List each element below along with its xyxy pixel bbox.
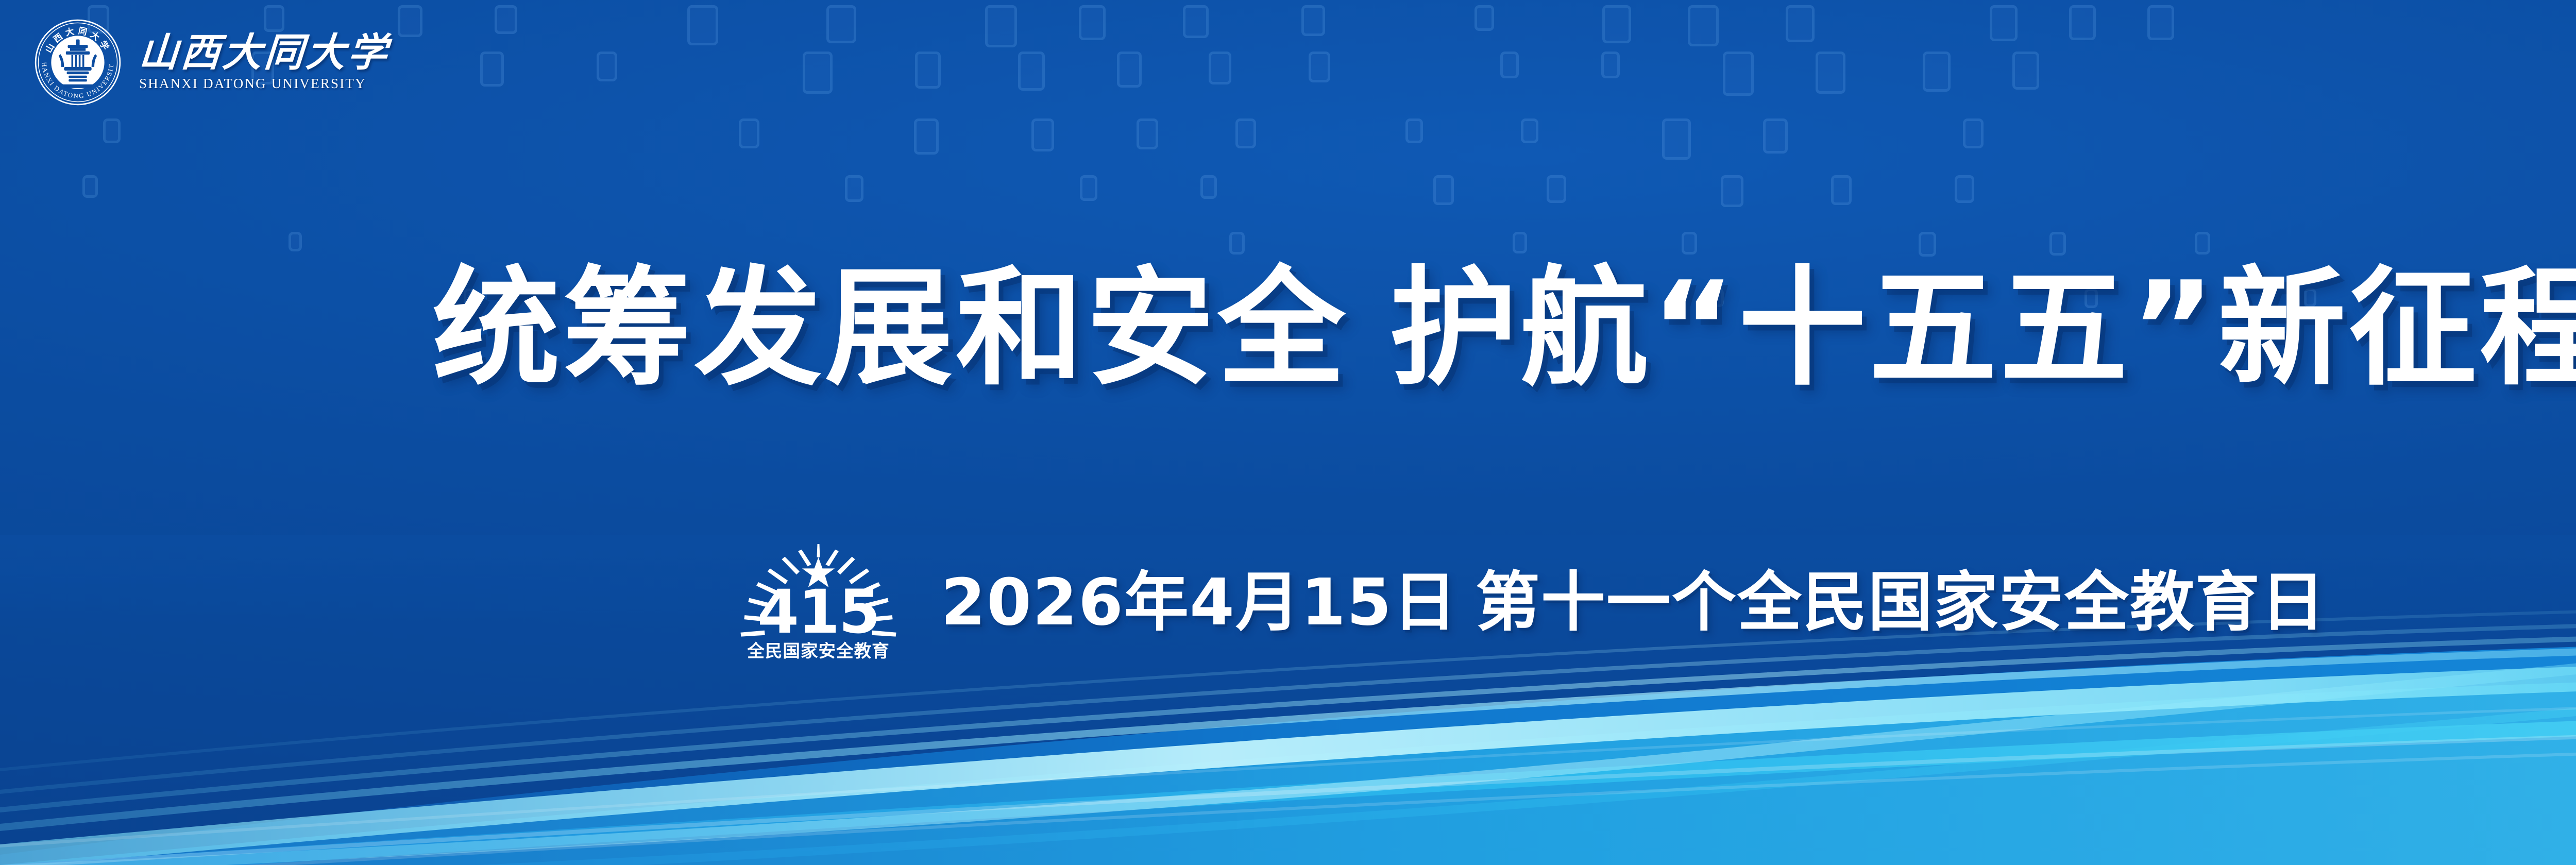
pattern-cell bbox=[398, 5, 422, 37]
pattern-cell bbox=[914, 118, 939, 155]
subtitle-row: 415 全民国家安全教育 2026年4月15日第十一个全民国家安全教育日 bbox=[0, 542, 2576, 663]
pattern-cell bbox=[289, 232, 302, 251]
pattern-cell bbox=[1513, 232, 1527, 253]
security-education-day-banner: SHANXI DATONG UNIVERSITY 山西大同大学 bbox=[0, 0, 2576, 865]
pattern-cell bbox=[1963, 118, 1984, 148]
pattern-cell bbox=[1433, 175, 1454, 205]
pattern-cell bbox=[1080, 175, 1097, 201]
pattern-cell bbox=[1547, 175, 1566, 203]
pattern-cell bbox=[1079, 5, 1106, 40]
headline-part-1: 统筹发展和安全 bbox=[432, 255, 1348, 403]
pattern-cell bbox=[1831, 175, 1852, 205]
university-wordmark: 山西大同大学 SHANXI DATONG UNIVERSITY bbox=[139, 34, 389, 91]
pattern-cell bbox=[985, 5, 1017, 47]
pattern-cell bbox=[1721, 175, 1743, 207]
svg-text:415: 415 bbox=[757, 578, 879, 647]
pattern-cell bbox=[1031, 118, 1054, 151]
pattern-cell bbox=[1405, 118, 1423, 143]
pattern-cell bbox=[2012, 52, 2039, 90]
pattern-cell bbox=[687, 5, 718, 45]
pattern-cell bbox=[1209, 52, 1231, 84]
svg-text:全民国家安全教育: 全民国家安全教育 bbox=[747, 641, 889, 661]
pattern-cell bbox=[845, 175, 863, 202]
pattern-row bbox=[0, 175, 2576, 207]
pattern-cell bbox=[1521, 118, 1538, 143]
pattern-cell bbox=[1923, 52, 1951, 92]
pattern-cell bbox=[1763, 118, 1788, 154]
university-name-cn: 山西大同大学 bbox=[138, 34, 391, 72]
pattern-cell bbox=[1301, 5, 1325, 36]
pattern-cell bbox=[1786, 5, 1815, 42]
university-name-en: SHANXI DATONG UNIVERSITY bbox=[139, 77, 366, 91]
pattern-row bbox=[0, 232, 2576, 257]
pattern-cell bbox=[915, 52, 941, 89]
pattern-cell bbox=[82, 175, 98, 198]
headline-part-2: 护航“十五五”新征程 bbox=[1389, 255, 2576, 403]
pattern-cell bbox=[1688, 5, 1719, 46]
pattern-cell bbox=[1309, 52, 1330, 82]
pattern-cell bbox=[826, 5, 856, 43]
pattern-cell bbox=[1723, 52, 1754, 96]
pattern-cell bbox=[2195, 232, 2210, 255]
pattern-cell bbox=[1682, 232, 1697, 255]
pattern-cell bbox=[1662, 118, 1691, 160]
pattern-cell bbox=[2147, 5, 2174, 40]
pattern-cell bbox=[1990, 5, 2018, 41]
pattern-cell bbox=[1955, 175, 1974, 203]
pattern-cell bbox=[1816, 52, 1845, 94]
pattern-cell bbox=[1117, 52, 1142, 88]
pattern-cell bbox=[1919, 232, 1936, 257]
subtitle-occasion: 第十一个全民国家安全教育日 bbox=[1476, 565, 2326, 640]
pattern-cell bbox=[1475, 5, 1494, 31]
pattern-cell bbox=[1137, 118, 1158, 149]
university-logo-lockup: SHANXI DATONG UNIVERSITY 山西大同大学 bbox=[32, 16, 389, 108]
pattern-cell bbox=[1200, 175, 1217, 199]
pattern-cell bbox=[2069, 5, 2096, 40]
pattern-row bbox=[0, 118, 2576, 160]
pattern-cell bbox=[597, 52, 617, 81]
pattern-cell bbox=[480, 52, 504, 87]
pattern-cell bbox=[1500, 52, 1519, 78]
pattern-cell bbox=[1235, 118, 1256, 148]
subtitle-date: 2026年4月15日 bbox=[941, 565, 1458, 640]
national-security-education-415-emblem-icon: 415 全民国家安全教育 bbox=[717, 542, 920, 663]
pattern-cell bbox=[2049, 232, 2066, 256]
pattern-cell bbox=[803, 52, 833, 94]
pattern-cell bbox=[103, 118, 121, 143]
pattern-cell bbox=[495, 5, 517, 34]
pattern-cell bbox=[1018, 52, 1045, 91]
page-title: 统筹发展和安全护航“十五五”新征程 bbox=[0, 258, 2576, 401]
pattern-cell bbox=[1601, 52, 1620, 78]
pattern-cell bbox=[1229, 232, 1245, 255]
subtitle-text: 2026年4月15日第十一个全民国家安全教育日 bbox=[941, 567, 2326, 638]
pattern-cell bbox=[1183, 5, 1209, 38]
pattern-cell bbox=[739, 118, 759, 148]
university-seal-icon: SHANXI DATONG UNIVERSITY 山西大同大学 bbox=[32, 16, 124, 108]
pattern-cell bbox=[1602, 5, 1631, 43]
